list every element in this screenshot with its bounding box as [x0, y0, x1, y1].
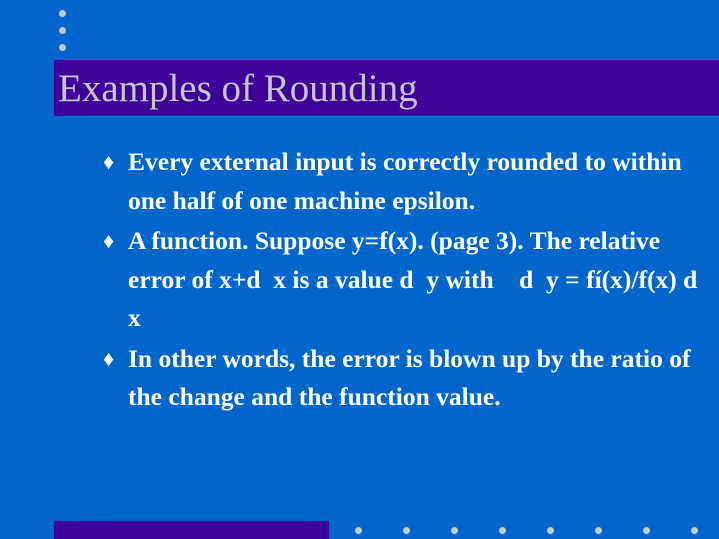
list-item-text: Every external input is correctly rounde… — [128, 143, 705, 220]
list-item: ♦ In other words, the error is blown up … — [100, 340, 705, 417]
decorative-dot-icon — [643, 527, 650, 534]
decorative-dot-icon — [595, 527, 602, 534]
list-item-text: A function. Suppose y=f(x). (page 3). Th… — [128, 222, 705, 338]
decorative-dot-icon — [691, 527, 698, 534]
decorative-dot-icon — [547, 527, 554, 534]
slide-canvas: Examples of Rounding ♦ Every external in… — [0, 0, 719, 539]
decorative-dot-icon — [59, 44, 66, 51]
bottom-accent-bar — [54, 521, 329, 539]
decorative-dot-icon — [403, 527, 410, 534]
decorative-dot-icon — [355, 527, 362, 534]
list-item-text: In other words, the error is blown up by… — [128, 340, 705, 417]
diamond-bullet-icon: ♦ — [103, 143, 114, 182]
top-left-dot-decoration — [59, 9, 69, 57]
diamond-bullet-icon: ♦ — [103, 340, 114, 379]
decorative-dot-icon — [499, 527, 506, 534]
list-item: ♦ Every external input is correctly roun… — [100, 143, 705, 220]
bottom-dot-decoration — [355, 527, 700, 535]
decorative-dot-icon — [451, 527, 458, 534]
bullet-list: ♦ Every external input is correctly roun… — [100, 143, 705, 419]
slide-title: Examples of Rounding — [58, 61, 718, 116]
list-item: ♦ A function. Suppose y=f(x). (page 3). … — [100, 222, 705, 338]
decorative-dot-icon — [59, 27, 66, 34]
decorative-dot-icon — [59, 10, 66, 17]
diamond-bullet-icon: ♦ — [103, 222, 114, 261]
